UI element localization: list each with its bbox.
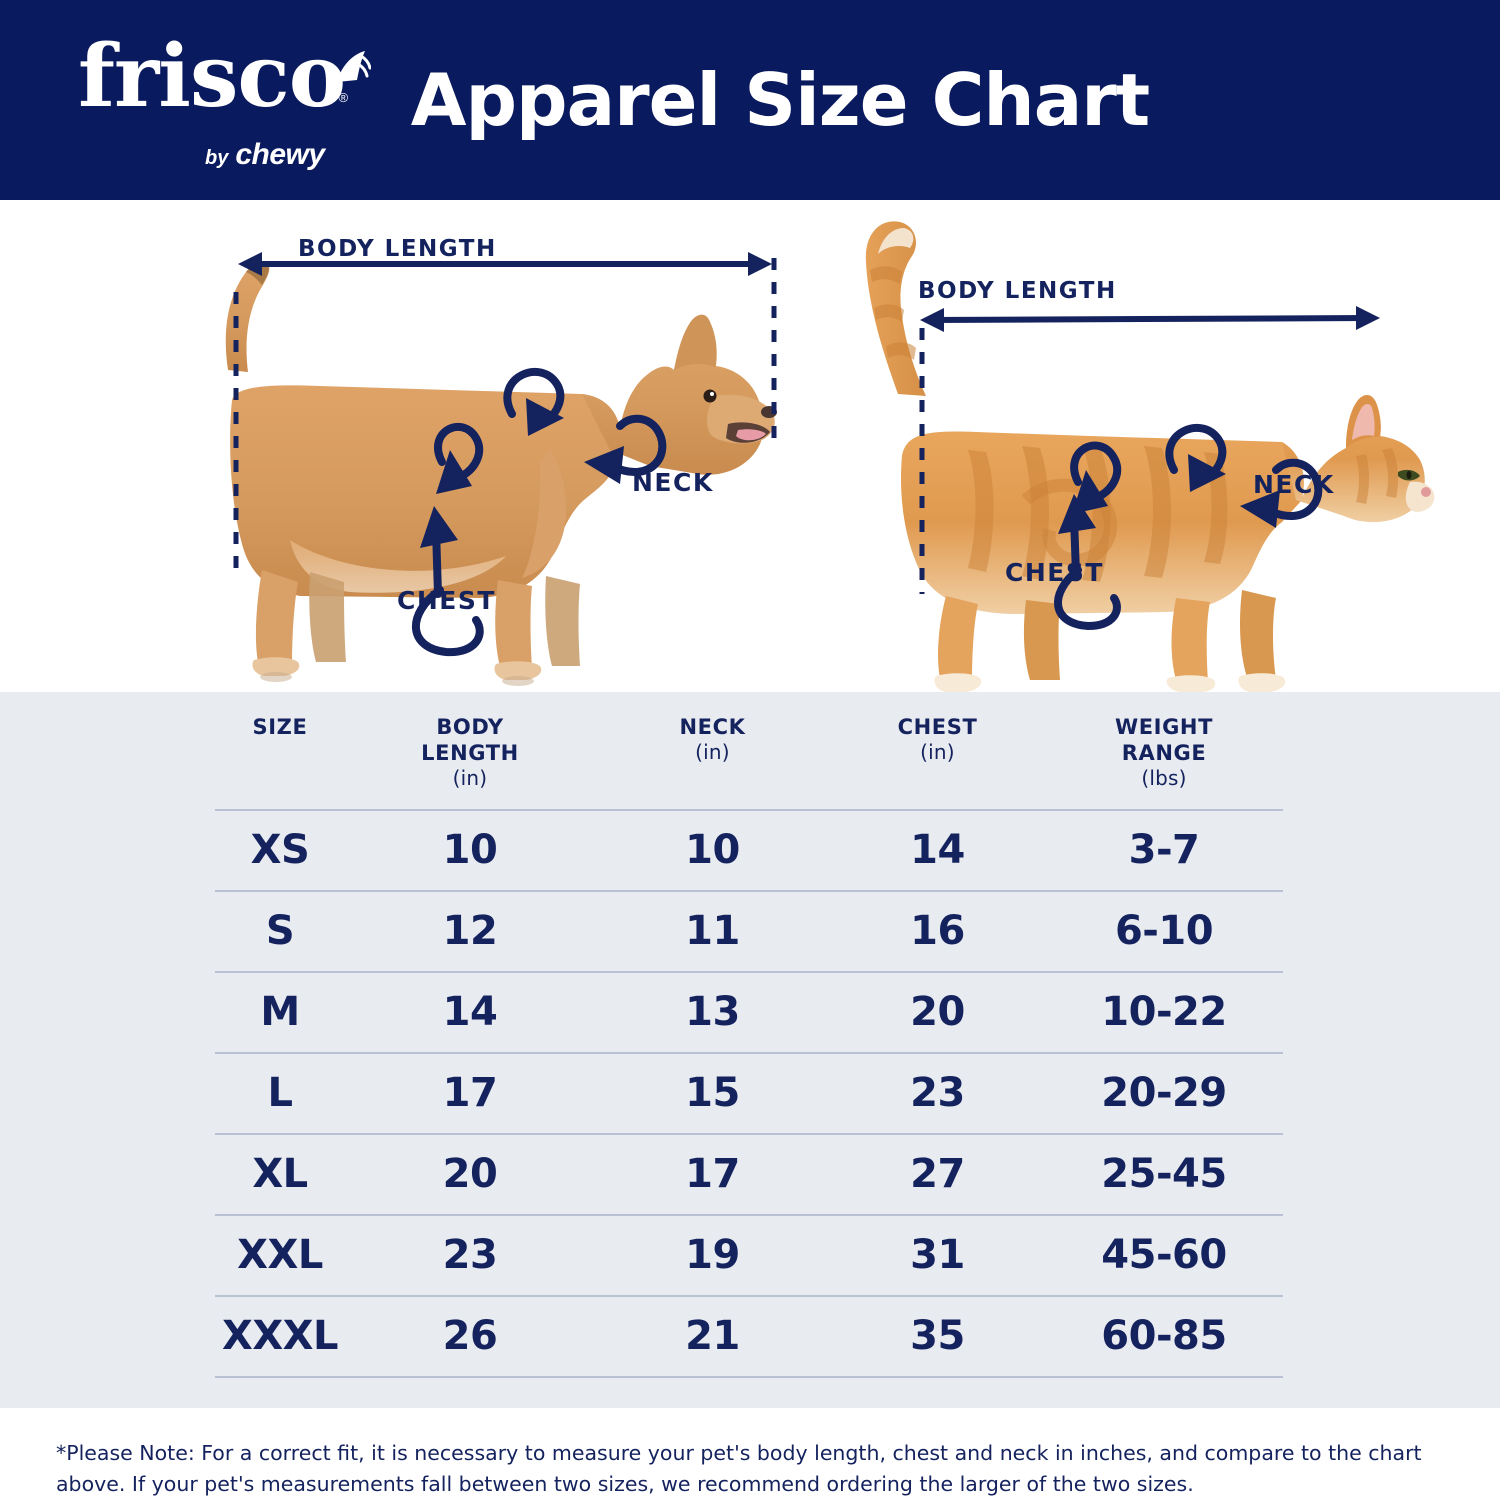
cell-weight-range: 10-22 [1045, 972, 1283, 1053]
cell-size: XS [215, 810, 345, 891]
cell-body-length: 14 [345, 972, 595, 1053]
cat-diagram: BODY LENGTH NECK CHEST [790, 200, 1430, 692]
dog-chest-label: CHEST [397, 586, 496, 615]
apparel-size-table: SIZE BODY LENGTH (in) NECK (in) CHEST (i… [215, 692, 1283, 1378]
cell-neck: 13 [595, 972, 830, 1053]
column-header-neck-unit: (in) [595, 740, 830, 765]
column-header-chest-label: CHEST [898, 715, 978, 739]
cell-body-length: 26 [345, 1296, 595, 1377]
column-header-body-length-line2: LENGTH [421, 741, 519, 765]
cell-weight-range: 6-10 [1045, 891, 1283, 972]
cat-body-length-arrow [932, 318, 1370, 320]
page-title: Apparel Size Chart [0, 0, 1500, 200]
table-row: XL20172725-45 [215, 1134, 1283, 1215]
cell-size: M [215, 972, 345, 1053]
cat-body-length-label: BODY LENGTH [918, 278, 1117, 304]
table-body: XS1010143-7S1211166-10M14132010-22L17152… [215, 810, 1283, 1377]
column-header-size: SIZE [215, 692, 345, 810]
dog-illustration [150, 200, 770, 692]
column-header-body-length: BODY LENGTH (in) [345, 692, 595, 810]
cell-body-length: 12 [345, 891, 595, 972]
cell-neck: 10 [595, 810, 830, 891]
table-row: XXXL26213560-85 [215, 1296, 1283, 1377]
cell-size: L [215, 1053, 345, 1134]
cell-size: S [215, 891, 345, 972]
cell-weight-range: 3-7 [1045, 810, 1283, 891]
cell-weight-range: 60-85 [1045, 1296, 1283, 1377]
cell-chest: 35 [830, 1296, 1045, 1377]
cell-weight-range: 20-29 [1045, 1053, 1283, 1134]
column-header-neck: NECK (in) [595, 692, 830, 810]
column-header-chest-unit: (in) [830, 740, 1045, 765]
measurement-illustrations: BODY LENGTH NECK CHEST [0, 200, 1500, 692]
footer-note-text: *Please Note: For a correct fit, it is n… [56, 1438, 1444, 1500]
cell-neck: 19 [595, 1215, 830, 1296]
cell-neck: 15 [595, 1053, 830, 1134]
table-row: S1211166-10 [215, 891, 1283, 972]
cat-chest-label: CHEST [1005, 558, 1104, 587]
cell-size: XXL [215, 1215, 345, 1296]
table-row: XS1010143-7 [215, 810, 1283, 891]
column-header-chest: CHEST (in) [830, 692, 1045, 810]
cell-chest: 31 [830, 1215, 1045, 1296]
cell-weight-range: 45-60 [1045, 1215, 1283, 1296]
column-header-weight-range: WEIGHT RANGE (lbs) [1045, 692, 1283, 810]
dog-body-length-label: BODY LENGTH [298, 236, 497, 262]
footer-note: *Please Note: For a correct fit, it is n… [0, 1408, 1500, 1500]
cell-chest: 27 [830, 1134, 1045, 1215]
cell-neck: 21 [595, 1296, 830, 1377]
cell-size: XXXL [215, 1296, 345, 1377]
cell-chest: 16 [830, 891, 1045, 972]
column-header-body-length-line1: BODY [436, 715, 503, 739]
cat-illustration [790, 200, 1430, 692]
column-header-size-label: SIZE [253, 715, 308, 739]
cell-chest: 23 [830, 1053, 1045, 1134]
column-header-weight-line1: WEIGHT [1115, 715, 1213, 739]
cell-size: XL [215, 1134, 345, 1215]
cell-neck: 17 [595, 1134, 830, 1215]
column-header-body-length-unit: (in) [345, 766, 595, 791]
dog-diagram: BODY LENGTH NECK CHEST [150, 200, 770, 692]
cell-body-length: 10 [345, 810, 595, 891]
cell-body-length: 23 [345, 1215, 595, 1296]
column-header-weight-unit: (lbs) [1045, 766, 1283, 791]
cell-chest: 20 [830, 972, 1045, 1053]
table-header-row: SIZE BODY LENGTH (in) NECK (in) CHEST (i… [215, 692, 1283, 810]
column-header-neck-label: NECK [679, 715, 745, 739]
cat-neck-label: NECK [1253, 470, 1335, 499]
cell-chest: 14 [830, 810, 1045, 891]
column-header-weight-line2: RANGE [1122, 741, 1207, 765]
cell-weight-range: 25-45 [1045, 1134, 1283, 1215]
table-row: L17152320-29 [215, 1053, 1283, 1134]
table-row: M14132010-22 [215, 972, 1283, 1053]
page-header: frisco ® by chewy Apparel Size Chart [0, 0, 1500, 200]
table-row: XXL23193145-60 [215, 1215, 1283, 1296]
size-chart-page: frisco ® by chewy Apparel Size Chart [0, 0, 1500, 1500]
dog-neck-label: NECK [632, 468, 714, 497]
table-head: SIZE BODY LENGTH (in) NECK (in) CHEST (i… [215, 692, 1283, 810]
cell-body-length: 20 [345, 1134, 595, 1215]
cell-neck: 11 [595, 891, 830, 972]
size-table-zone: SIZE BODY LENGTH (in) NECK (in) CHEST (i… [0, 692, 1500, 1408]
cell-body-length: 17 [345, 1053, 595, 1134]
